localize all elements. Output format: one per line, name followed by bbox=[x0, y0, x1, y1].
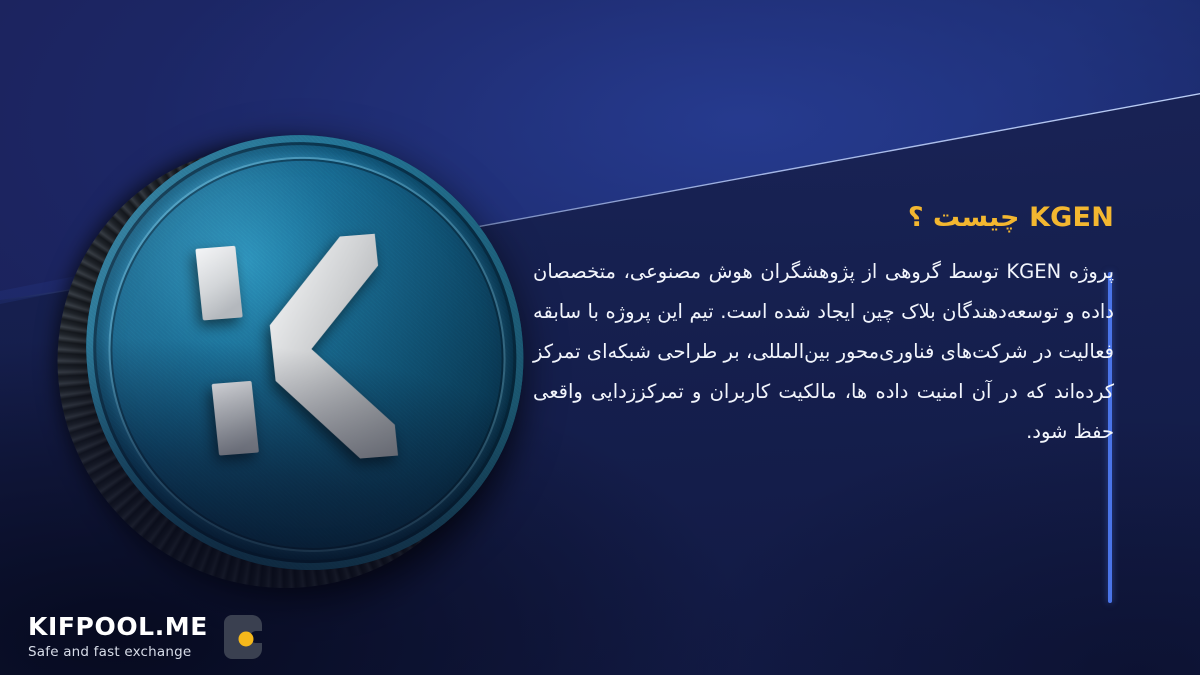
page-title: KGEN چیست ؟ bbox=[529, 200, 1114, 236]
content-column: KGEN چیست ؟ پروژه KGEN توسط گروهی از پژو… bbox=[529, 200, 1114, 452]
brand-name: KIFPOOL.ME bbox=[28, 614, 208, 639]
brand-logo[interactable]: KIFPOOL.ME Safe and fast exchange bbox=[28, 613, 268, 661]
brand-text-block: KIFPOOL.ME Safe and fast exchange bbox=[28, 614, 208, 660]
body-paragraph: پروژه KGEN توسط گروهی از پژوهشگران هوش م… bbox=[529, 252, 1114, 452]
brand-tagline: Safe and fast exchange bbox=[28, 646, 208, 660]
banner-stage: KGEN چیست ؟ پروژه KGEN توسط گروهی از پژو… bbox=[0, 0, 1200, 675]
wallet-icon bbox=[222, 613, 268, 661]
